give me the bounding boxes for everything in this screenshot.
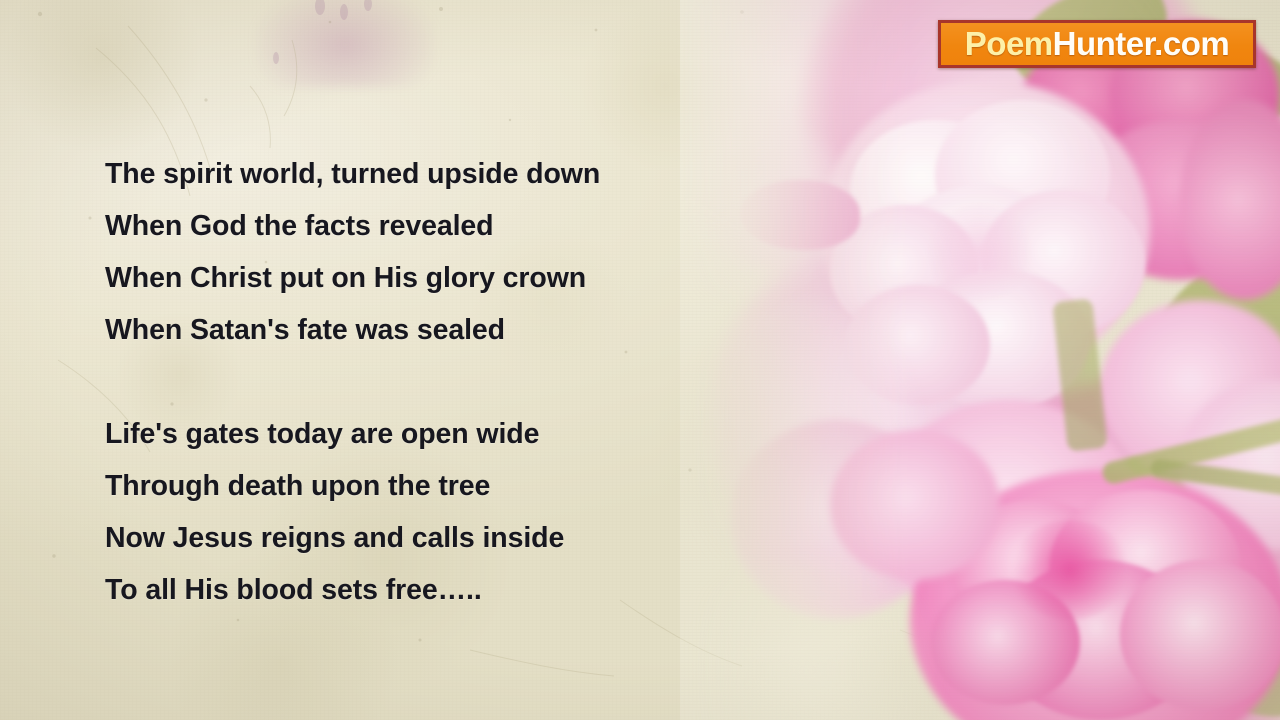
poem-line: Now Jesus reigns and calls inside	[105, 512, 745, 564]
poem-text-block: The spirit world, turned upside down Whe…	[105, 148, 745, 616]
poem-line: To all His blood sets free…..	[105, 564, 745, 616]
stanza-separator	[105, 356, 745, 408]
logo-text-hunter: Hunter.com	[1053, 25, 1230, 62]
poem-line: When God the facts revealed	[105, 200, 745, 252]
poemhunter-logo[interactable]: PoemHunter.com	[938, 20, 1256, 68]
logo-text-poem: Poem	[965, 25, 1053, 62]
poem-line: When Christ put on His glory crown	[105, 252, 745, 304]
poem-line: Life's gates today are open wide	[105, 408, 745, 460]
poem-line: When Satan's fate was sealed	[105, 304, 745, 356]
poem-line: The spirit world, turned upside down	[105, 148, 745, 200]
poem-line: Through death upon the tree	[105, 460, 745, 512]
logo-text: PoemHunter.com	[965, 27, 1229, 60]
poem-image-canvas: The spirit world, turned upside down Whe…	[0, 0, 1280, 720]
